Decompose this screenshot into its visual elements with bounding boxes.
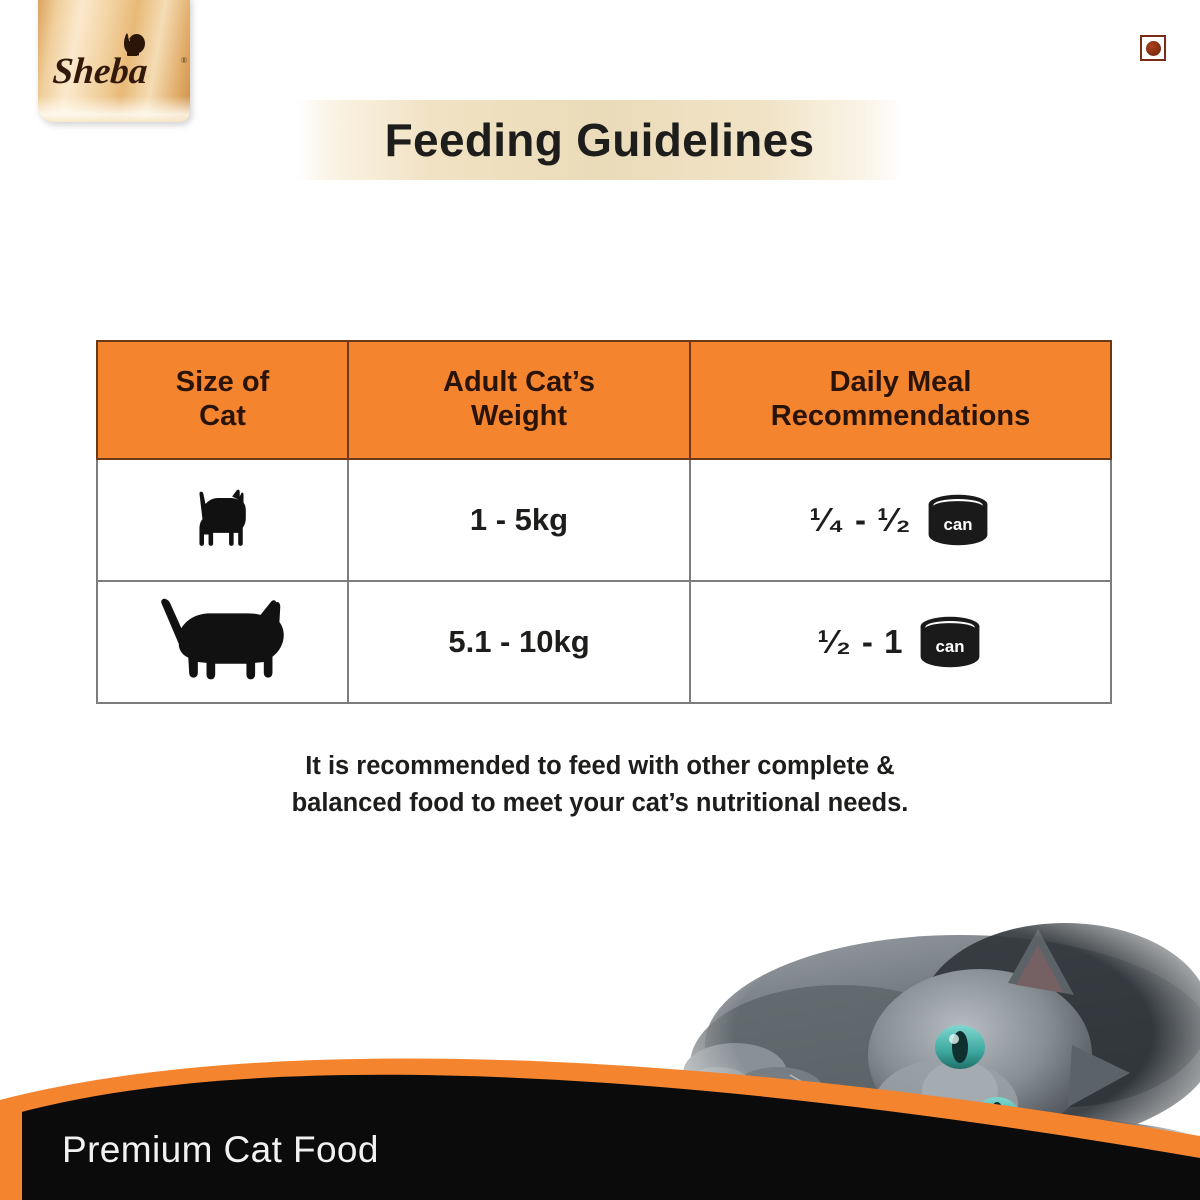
- meal-fraction: ¹⁄₂ - 1: [818, 623, 904, 661]
- table-header-row: Size of Cat Adult Cat’s Weight Daily Mea…: [97, 341, 1111, 459]
- cell-daily-meal: ¹⁄₄ - ¹⁄₂ can: [690, 459, 1111, 581]
- non-vegetarian-mark: [1140, 35, 1166, 61]
- footnote-line-1: It is recommended to feed with other com…: [150, 748, 1050, 785]
- bottom-banner: [0, 1040, 1200, 1200]
- table-header: Size of Cat Adult Cat’s Weight Daily Mea…: [97, 341, 1111, 459]
- page-title: Feeding Guidelines: [385, 113, 815, 167]
- large-walking-cat-icon: [149, 596, 297, 688]
- feeding-guidelines-page: Sheba ® Feeding Guidelines Size of Cat A…: [0, 0, 1200, 1200]
- svg-text:Sheba: Sheba: [52, 51, 149, 92]
- table-row: 1 - 5kg ¹⁄₄ - ¹⁄₂ can: [97, 459, 1111, 581]
- footer-tagline: Premium Cat Food: [62, 1129, 379, 1171]
- column-header-size-of-cat: Size of Cat: [97, 341, 348, 459]
- sheba-logo-ribbon: Sheba ®: [38, 0, 190, 122]
- column-header-daily-meal-recommendations: Daily Meal Recommendations: [690, 341, 1111, 459]
- table-body: 1 - 5kg ¹⁄₄ - ¹⁄₂ can: [97, 459, 1111, 703]
- sheba-wordmark: Sheba: [52, 36, 192, 106]
- orange-left-sliver: [0, 1102, 22, 1200]
- meal-fraction: ¹⁄₄ - ¹⁄₂: [810, 501, 912, 539]
- table-row: 5.1 - 10kg ¹⁄₂ - 1 can: [97, 581, 1111, 703]
- trademark-symbol: ®: [181, 56, 187, 65]
- column-header-adult-cat-weight: Adult Cat’s Weight: [348, 341, 690, 459]
- title-band: Feeding Guidelines: [297, 100, 902, 180]
- cell-size-icon: [97, 581, 348, 703]
- can-icon: can: [925, 492, 991, 548]
- cell-weight: 5.1 - 10kg: [348, 581, 690, 703]
- can-icon: can: [917, 614, 983, 670]
- feeding-footnote: It is recommended to feed with other com…: [150, 748, 1050, 822]
- feeding-guidelines-table: Size of Cat Adult Cat’s Weight Daily Mea…: [96, 340, 1112, 704]
- nonveg-dot-icon: [1146, 41, 1161, 56]
- cell-daily-meal: ¹⁄₂ - 1 can: [690, 581, 1111, 703]
- cell-weight: 1 - 5kg: [348, 459, 690, 581]
- small-standing-cat-icon: [185, 487, 261, 553]
- footnote-line-2: balanced food to meet your cat’s nutriti…: [150, 785, 1050, 822]
- can-label: can: [936, 637, 965, 656]
- cell-size-icon: [97, 459, 348, 581]
- can-label: can: [944, 515, 973, 534]
